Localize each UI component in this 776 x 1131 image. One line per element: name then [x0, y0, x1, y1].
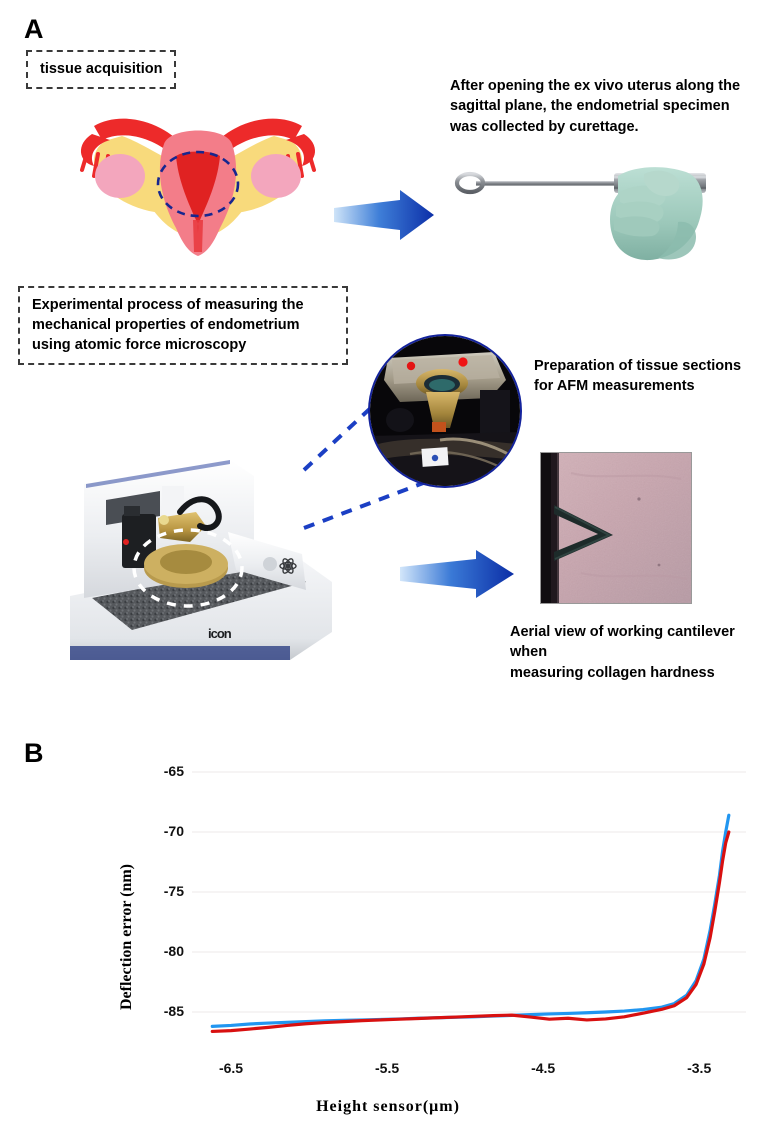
y-tick-label: -70: [150, 823, 184, 839]
y-tick-label: -80: [150, 943, 184, 959]
chart-y-tick-labels: -65-70-75-80-85: [150, 752, 270, 1052]
curettage-caption-line1: After opening the ex vivo uterus along t…: [450, 76, 772, 96]
chart-x-axis-title: Height sensor(μm): [0, 1098, 776, 1116]
atomic-force-microscope-instrument-photo: icon: [40, 420, 340, 680]
x-tick-label: -6.5: [201, 1060, 261, 1076]
arrow-right-icon-1: [332, 188, 436, 242]
gloved-hand-holding-curette-photo: [448, 162, 724, 268]
y-tick-label: -85: [150, 1003, 184, 1019]
tissue-acquisition-box: tissue acquisition: [26, 50, 176, 89]
panel-b-letter: B: [24, 740, 44, 767]
preparation-caption-line1: Preparation of tissue sections: [534, 356, 774, 376]
experimental-process-box: Experimental process of measuring the me…: [18, 286, 348, 365]
uterus-anatomy-illustration: [48, 100, 348, 260]
curettage-caption: After opening the ex vivo uterus along t…: [450, 76, 772, 137]
aerial-caption-line1: Aerial view of working cantilever when: [510, 622, 770, 663]
chart-x-tick-labels: -6.5-5.5-4.5-3.5: [150, 1060, 760, 1084]
experimental-process-label: Experimental process of measuring the me…: [32, 297, 304, 353]
curettage-caption-line2: sagittal plane, the endometrial specimen: [450, 96, 772, 116]
arrow-right-icon-2: [398, 548, 516, 600]
x-tick-label: -4.5: [513, 1060, 573, 1076]
y-tick-label: -65: [150, 763, 184, 779]
aerial-view-caption: Aerial view of working cantilever when m…: [510, 622, 770, 683]
y-tick-label: -75: [150, 883, 184, 899]
preparation-caption: Preparation of tissue sections for AFM m…: [534, 356, 774, 397]
aerial-caption-line2: measuring collagen hardness: [510, 663, 770, 683]
chart-y-axis-title-text: Deflection error (nm): [118, 864, 136, 1010]
preparation-caption-line2: for AFM measurements: [534, 376, 774, 396]
cantilever-on-tissue-micrograph: [540, 452, 692, 604]
svg-text:icon: icon: [208, 626, 232, 641]
x-tick-label: -3.5: [669, 1060, 729, 1076]
afm-scanner-head-closeup-photo: [368, 334, 522, 488]
curettage-caption-line3: was collected by curettage.: [450, 117, 772, 137]
x-tick-label: -5.5: [357, 1060, 417, 1076]
tissue-acquisition-label: tissue acquisition: [40, 61, 162, 77]
chart-x-axis-title-text: Height sensor(μm): [316, 1098, 460, 1115]
panel-a-letter: A: [24, 16, 44, 43]
